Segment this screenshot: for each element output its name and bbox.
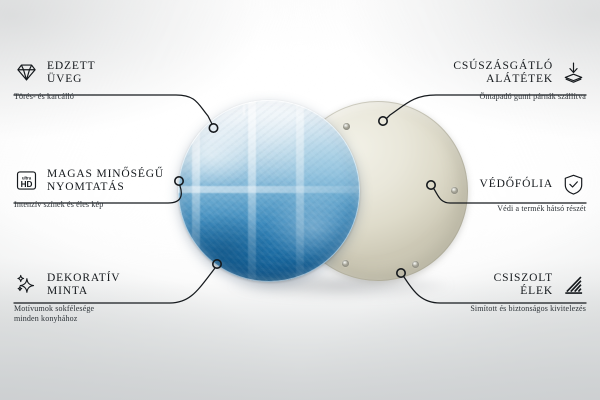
feature-title-line1: VÉDŐFÓLIA: [480, 178, 553, 191]
feature-title-line1: CSISZOLT: [494, 272, 553, 285]
feature-title-line2: ALÁTÉTEK: [453, 73, 553, 86]
anti-slip-pad-icon: [561, 60, 586, 85]
feature-title-line2: NYOMTATÁS: [47, 181, 164, 194]
feature-subtitle-line1: Védi a termék hátsó részét: [396, 204, 586, 214]
feature-subtitle-line1: Simított és biztonságos kivitelezés: [396, 304, 586, 314]
feature-subtitle-line1: Motívumok sokfélesége: [14, 304, 209, 314]
feature-high-quality-print: ultra HD MAGAS MINŐSÉGŰ NYOMTATÁS Intenz…: [14, 168, 209, 210]
feature-tempered-glass: EDZETT ÜVEG Törés- és karcálló: [14, 60, 204, 102]
feature-decorative-pattern: DEKORATÍV MINTA Motívumok sokfélesége mi…: [14, 272, 209, 325]
feature-header: VÉDŐFÓLIA: [396, 172, 586, 197]
feature-subtitle-line1: Törés- és karcálló: [14, 92, 204, 102]
feature-header: DEKORATÍV MINTA: [14, 272, 209, 297]
sparkle-icon: [14, 272, 39, 297]
feature-title-line1: DEKORATÍV: [47, 272, 120, 285]
feature-subtitle-line1: Öntapadó gumi párnák szállítva: [396, 92, 586, 102]
shield-check-icon: [561, 172, 586, 197]
feature-title-line1: EDZETT: [47, 60, 96, 73]
feature-protective-film: VÉDŐFÓLIA Védi a termék hátsó részét: [396, 172, 586, 214]
feature-subtitle-line2: minden konyhához: [14, 314, 209, 324]
feature-header: CSISZOLT ÉLEK: [396, 272, 586, 297]
ultra-hd-badge-icon: ultra HD: [14, 168, 39, 193]
feature-anti-slip-pads: CSÚSZÁSGÁTLÓ ALÁTÉTEK Öntapadó gumi párn…: [396, 60, 586, 102]
feature-title-line2: ÜVEG: [47, 73, 96, 86]
feature-header: ultra HD MAGAS MINŐSÉGŰ NYOMTATÁS: [14, 168, 209, 193]
feature-title-line2: ÉLEK: [494, 285, 553, 298]
feature-title-line2: MINTA: [47, 285, 120, 298]
infographic-canvas: EDZETT ÜVEG Törés- és karcálló ultra HD …: [0, 0, 600, 400]
feature-subtitle-line1: Intenzív színek és éles kép: [14, 200, 209, 210]
diamond-icon: [14, 60, 39, 85]
feature-title-line1: MAGAS MINŐSÉGŰ: [47, 168, 164, 181]
feature-title-line1: CSÚSZÁSGÁTLÓ: [453, 60, 553, 73]
polished-edge-icon: [561, 272, 586, 297]
feature-header: EDZETT ÜVEG: [14, 60, 204, 85]
ultra-hd-badge-large-text: HD: [21, 180, 33, 189]
feature-header: CSÚSZÁSGÁTLÓ ALÁTÉTEK: [396, 60, 586, 85]
feature-polished-edges: CSISZOLT ÉLEK Simított és biztonságos ki…: [396, 272, 586, 314]
